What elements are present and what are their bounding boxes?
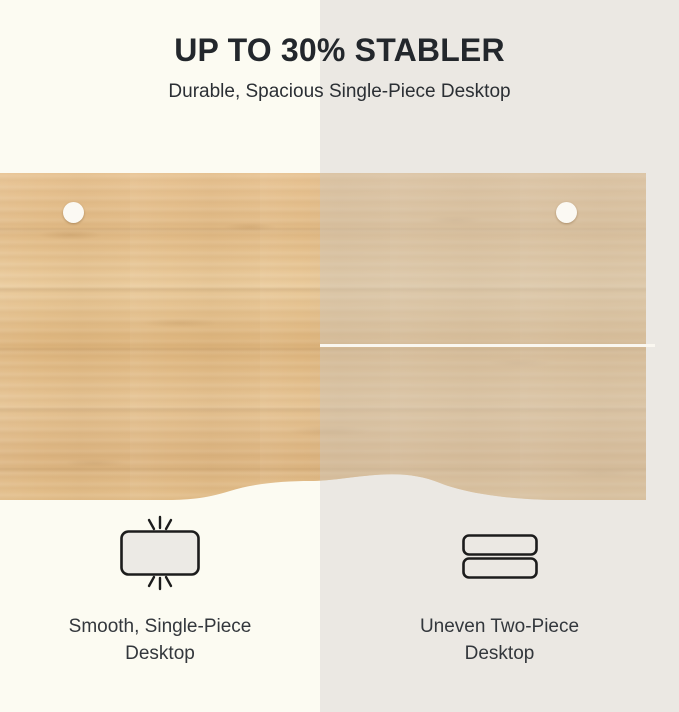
comparison-caption-left: Smooth, Single-Piece Desktop xyxy=(69,596,252,668)
comparison-caption-right: Uneven Two-Piece Desktop xyxy=(420,596,579,668)
caption-left-line2: Desktop xyxy=(125,643,195,664)
header: UP TO 30% STABLER Durable, Spacious Sing… xyxy=(0,0,679,104)
single-piece-desktop-icon xyxy=(108,510,212,596)
comparison-row: Smooth, Single-Piece Desktop Uneven Two-… xyxy=(0,510,679,690)
two-piece-desktop-icon xyxy=(448,510,552,596)
right-half-grey-overlay xyxy=(320,173,646,503)
comparison-column-right: Uneven Two-Piece Desktop xyxy=(320,510,679,690)
cable-grommet-hole-right xyxy=(556,202,577,223)
caption-right-line1: Uneven Two-Piece xyxy=(420,616,579,637)
desktop-board-shape xyxy=(0,173,646,503)
comparison-column-left: Smooth, Single-Piece Desktop xyxy=(0,510,320,690)
desktop-product-photo xyxy=(0,173,646,503)
headline-subtitle: Durable, Spacious Single-Piece Desktop xyxy=(0,68,679,104)
cable-grommet-hole-left xyxy=(63,202,84,223)
two-piece-seam-line xyxy=(320,344,655,347)
caption-right-line2: Desktop xyxy=(465,643,535,664)
headline-title: UP TO 30% STABLER xyxy=(0,0,679,68)
product-comparison-image: UP TO 30% STABLER Durable, Spacious Sing… xyxy=(0,0,679,712)
caption-left-line1: Smooth, Single-Piece xyxy=(69,616,252,637)
